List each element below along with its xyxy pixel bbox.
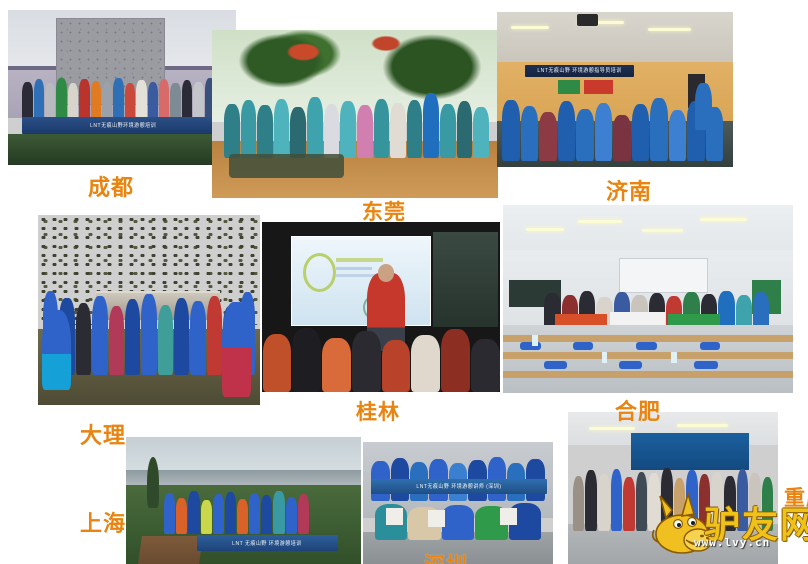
slide-title-line <box>336 258 383 262</box>
photo-chongqing[interactable] <box>568 412 778 564</box>
photo-dali[interactable] <box>38 215 260 405</box>
ceiling-light <box>642 229 683 232</box>
ceiling-light <box>526 228 564 231</box>
photo-jinan[interactable]: LNT无痕山野 环境游憩指导员培训 <box>497 12 733 167</box>
ceiling-light <box>700 218 746 221</box>
red-blossoms-2 <box>366 33 406 53</box>
event-banner-text: LNT无痕山野环境游憩培训 <box>90 122 156 130</box>
city-label-chengdu: 成都 <box>88 170 134 202</box>
photo-shanghai-content: LNT 无痕山野 环境游憩培训 <box>126 437 361 564</box>
photo-shanghai[interactable]: LNT 无痕山野 环境游憩培训 <box>126 437 361 564</box>
crowd <box>164 488 310 534</box>
photo-chengdu[interactable]: LNT无痕山野环境游憩培训 <box>8 10 236 165</box>
ceiling-light <box>578 220 622 223</box>
ceiling <box>497 12 733 65</box>
photo-hefei[interactable] <box>503 205 793 393</box>
city-label-chongqing: 重庆 <box>784 482 808 512</box>
dirt-path <box>138 536 203 564</box>
crowd <box>572 464 774 531</box>
city-label-jinan: 济南 <box>606 174 652 206</box>
crowd <box>223 91 489 158</box>
ceiling-light <box>677 424 727 427</box>
event-banner: LNT无痕山野环境游憩培训 <box>22 117 225 134</box>
seated-participants <box>502 86 724 160</box>
event-banner: LNT 无痕山野 环境游憩培训 <box>197 535 338 552</box>
photo-dongguan[interactable] <box>212 30 498 198</box>
ceiling-light <box>589 427 635 430</box>
photo-shenzhen-content: LNT无痕山野 环境游憩讲师 (深圳) <box>363 442 553 564</box>
photo-chengdu-content: LNT无痕山野环境游憩培训 <box>8 10 236 165</box>
photo-dongguan-content <box>212 30 498 198</box>
crowd <box>22 77 227 119</box>
photo-dali-content <box>38 215 260 405</box>
event-banner-text: LNT无痕山野 环境游憩讲师 (深圳) <box>416 483 501 491</box>
photo-guilin-content <box>262 222 500 392</box>
cypress-tree <box>147 457 159 508</box>
leave-no-trace-logo-icon <box>303 253 337 293</box>
certificate <box>500 508 517 525</box>
city-label-guilin: 桂林 <box>356 396 400 426</box>
foreground-person-left <box>42 310 71 390</box>
kneeling-participants <box>229 154 343 178</box>
desk-rows <box>503 325 793 393</box>
foreground-person-right <box>222 302 251 397</box>
city-label-hefei: 合肥 <box>615 394 661 426</box>
event-banner: LNT无痕山野 环境游憩讲师 (深圳) <box>371 479 548 495</box>
city-label-dali: 大理 <box>80 418 126 450</box>
event-banner-text: LNT 无痕山野 环境游憩培训 <box>232 539 302 547</box>
ceiling-light <box>648 28 690 31</box>
projector-screen <box>291 236 431 326</box>
event-banner: LNT无痕山野 环境游憩指导员培训 <box>525 65 634 77</box>
photo-jinan-content: LNT无痕山野 环境游憩指导员培训 <box>497 12 733 167</box>
photo-chongqing-content <box>568 412 778 564</box>
chalkboard <box>433 232 497 327</box>
city-label-shanghai: 上海 <box>80 506 126 538</box>
red-blossoms <box>281 40 327 64</box>
certificate <box>386 508 403 525</box>
photo-guilin[interactable] <box>262 222 500 392</box>
speaker-head <box>378 264 394 281</box>
standing-instructor <box>695 83 712 130</box>
city-label-dongguan: 东莞 <box>362 196 406 226</box>
certificate <box>428 510 445 527</box>
photo-shenzhen[interactable]: LNT无痕山野 环境游憩讲师 (深圳) <box>363 442 553 564</box>
grass-field <box>8 134 236 165</box>
slide-text-line <box>336 267 372 271</box>
city-label-shenzhen: 深圳 <box>424 549 468 564</box>
photo-hefei-content <box>503 205 793 393</box>
ceiling-light <box>511 26 549 29</box>
audience <box>262 324 500 392</box>
slide-canvas: LNT无痕山野环境游憩培训 成都 <box>0 0 808 564</box>
projector <box>577 14 598 26</box>
event-banner-text: LNT无痕山野 环境游憩指导员培训 <box>537 67 621 75</box>
